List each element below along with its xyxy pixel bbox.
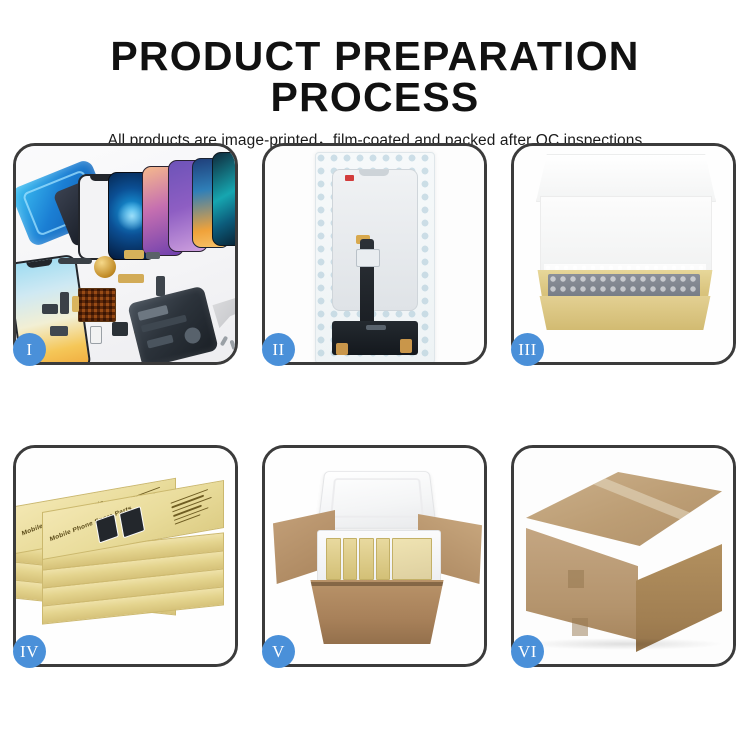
- step-image-stacked-printed-boxes: Mobile Phone Spare Parts Mobile Phone Sp…: [16, 448, 235, 664]
- page-title: PRODUCT PREPARATION PROCESS: [0, 36, 750, 118]
- step-image-bubble-wrapped-screen: [265, 146, 484, 362]
- spare-part-graphic: [58, 258, 92, 264]
- spare-part-graphic: [60, 292, 69, 314]
- carton-tape-graphic: [572, 618, 588, 636]
- driver-board-graphic: [332, 321, 418, 355]
- step-badge-2: II: [262, 333, 295, 366]
- step-badge-5: V: [262, 635, 295, 668]
- step-panel-6: VI: [511, 445, 736, 667]
- speaker-module-graphic: [94, 256, 116, 278]
- inner-boxes-graphic: [326, 538, 432, 580]
- box-back-wall-graphic: [540, 196, 712, 274]
- carton-right-face-graphic: [636, 544, 722, 652]
- lcd-screen-graphic: [332, 169, 418, 311]
- product-preparation-infographic: PRODUCT PREPARATION PROCESS All products…: [0, 0, 750, 750]
- spare-part-graphic: [146, 252, 160, 259]
- phone-notch-graphic: [359, 170, 389, 176]
- spare-part-graphic: [118, 274, 144, 283]
- carton-body-graphic: [303, 580, 451, 644]
- step-panel-4: Mobile Phone Spare Parts Mobile Phone Sp…: [13, 445, 238, 667]
- step-image-sealed-shipping-carton: [514, 448, 733, 664]
- phone-screen-graphic-6: [212, 152, 235, 246]
- box-stack-right: Mobile Phone Spare Parts: [42, 466, 222, 616]
- spare-part-graphic: [124, 250, 144, 259]
- header: PRODUCT PREPARATION PROCESS All products…: [0, 0, 750, 151]
- carton-top-face-graphic: [526, 472, 722, 546]
- carton-shadow: [524, 638, 724, 650]
- box-front-wall-graphic: [536, 296, 714, 330]
- step-badge-6: VI: [511, 635, 544, 668]
- spec-list-graphic: [171, 487, 220, 531]
- carton-tape-graphic: [568, 570, 584, 588]
- step-badge-3: III: [511, 333, 544, 366]
- screws-graphic: [222, 334, 235, 352]
- spare-part-graphic: [50, 326, 68, 336]
- spare-part-graphic: [72, 296, 79, 312]
- phone-print-graphic: [97, 506, 149, 539]
- spare-part-graphic: [90, 326, 102, 344]
- bubble-wrap-bag-graphic: [315, 152, 435, 362]
- spare-part-graphic: [156, 276, 165, 296]
- chip-grid-graphic: [78, 288, 116, 322]
- step-panel-1: I: [13, 143, 238, 365]
- step-panel-5: V: [262, 445, 487, 667]
- spare-part-graphic: [42, 304, 58, 314]
- phone-backplate-graphic: [127, 286, 219, 362]
- box-lid-graphic: [536, 154, 716, 202]
- step-panel-2: II: [262, 143, 487, 365]
- step-badge-1: I: [13, 333, 46, 366]
- cable-connector-graphic: [356, 249, 380, 267]
- red-qc-mark-graphic: [345, 175, 354, 181]
- foam-tray-graphic: [317, 530, 441, 588]
- spare-part-graphic: [112, 322, 128, 336]
- steps-grid: I II: [13, 143, 737, 672]
- step-panel-3: III: [511, 143, 736, 365]
- step-badge-4: IV: [13, 635, 46, 668]
- step-image-carton-packing: [265, 448, 484, 664]
- step-image-foam-lined-inner-box: [514, 146, 733, 362]
- tweezers-graphic: [210, 289, 235, 332]
- step-image-phone-parts-spread: [16, 146, 235, 362]
